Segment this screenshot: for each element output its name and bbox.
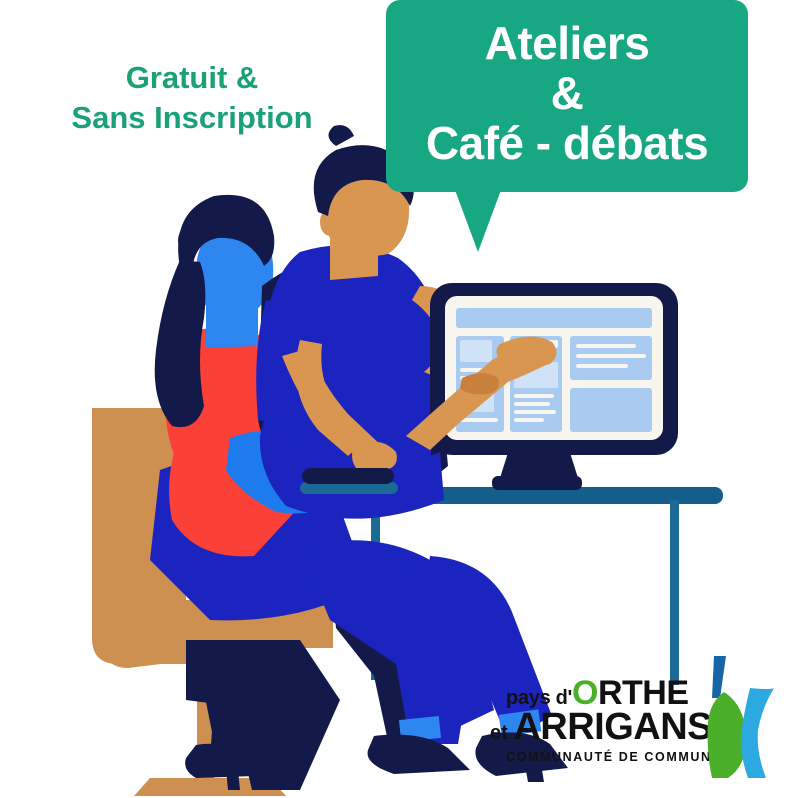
logo-line-arrigans: et ARRIGANS [490, 706, 712, 749]
headline-line-2: Sans Inscription [42, 98, 342, 138]
poster-canvas: Gratuit & Sans Inscription Ateliers & Ca… [0, 0, 800, 798]
logo-arrigans-text: ARRIGANS [513, 706, 712, 748]
logo: pays d'ORTHE et ARRIGANS COMMUNAUTÉ DE C… [498, 658, 788, 788]
logo-mark-leaf-river [684, 654, 788, 782]
logo-wordmark: pays d'ORTHE et ARRIGANS COMMUNAUTÉ DE C… [498, 658, 698, 778]
bubble-line-3: Café - débats [426, 119, 708, 169]
headline-line-1: Gratuit & [42, 58, 342, 98]
logo-et-text: et [490, 722, 513, 744]
headline: Gratuit & Sans Inscription [42, 58, 342, 137]
bubble-line-1: Ateliers [485, 19, 650, 69]
bubble-line-2: & [551, 69, 584, 119]
speech-bubble-tail [455, 190, 501, 252]
speech-bubble: Ateliers & Café - débats [386, 0, 748, 192]
